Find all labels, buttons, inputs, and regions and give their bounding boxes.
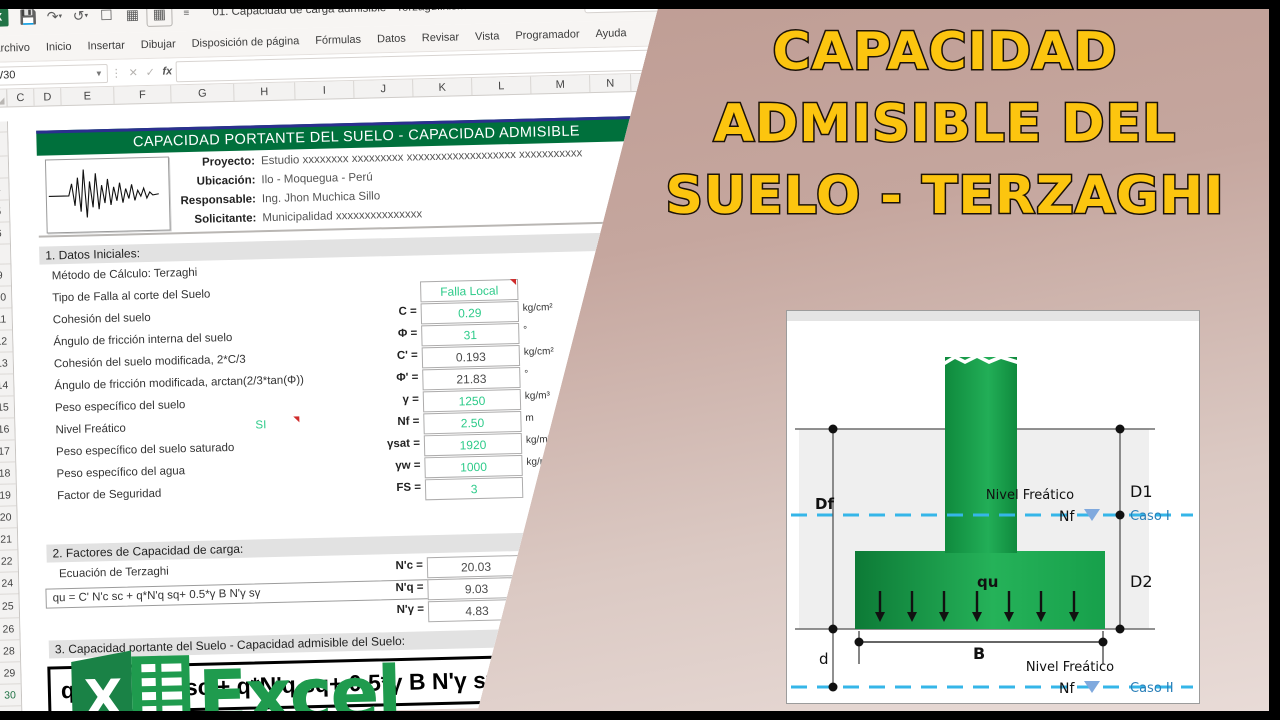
row-header-2[interactable]: 2 bbox=[0, 132, 8, 157]
accept-icon[interactable]: ✓ bbox=[142, 65, 159, 78]
symbol-cohesion-mod: C' = bbox=[382, 349, 418, 362]
diagram-label-d1: D1 bbox=[1130, 482, 1153, 501]
foundation-diagram-svg: Df d B qu D1 D2 Nivel Freático Nf Caso I… bbox=[787, 319, 1199, 701]
row-header-20[interactable]: 20 bbox=[0, 506, 17, 529]
row-header-3[interactable]: 3 bbox=[0, 156, 8, 179]
value-factor-seguridad[interactable]: 3 bbox=[425, 477, 523, 500]
value-angulo-mod[interactable]: 21.83 bbox=[422, 367, 520, 390]
excel-watermark: X Excel bbox=[69, 640, 401, 720]
symbol-ngamma: N'γ = bbox=[380, 603, 424, 616]
symbol-cohesion: C = bbox=[381, 305, 417, 318]
row-header-16[interactable]: 16 bbox=[0, 418, 15, 441]
column-header-H[interactable]: H bbox=[234, 82, 295, 100]
column-header-E[interactable]: E bbox=[61, 87, 114, 105]
cancel-icon[interactable]: ✕ bbox=[125, 66, 142, 79]
header-value-ubicacion: Ilo - Moquegua - Perú bbox=[261, 172, 372, 187]
value-nivel-freatico[interactable]: 2.50 bbox=[423, 411, 521, 434]
header-label-solicitante: Solicitante: bbox=[108, 212, 256, 228]
row-header-30[interactable]: 30 bbox=[0, 684, 21, 707]
value-cohesion-mod[interactable]: 0.193 bbox=[422, 345, 520, 368]
section-1-title: 1. Datos Iniciales: bbox=[39, 231, 679, 265]
row-header-4[interactable]: 4 bbox=[0, 178, 9, 201]
row-header-28[interactable]: 28 bbox=[0, 640, 20, 663]
column-header-L[interactable]: L bbox=[472, 77, 531, 95]
row-header-9[interactable]: 9 bbox=[0, 264, 11, 287]
undo-icon[interactable]: ↷▾ bbox=[42, 4, 67, 29]
ribbon-tab-archivo[interactable]: Archivo bbox=[0, 39, 38, 58]
column-header-F[interactable]: F bbox=[114, 85, 171, 103]
column-header-G[interactable]: G bbox=[171, 84, 234, 103]
row-header-17[interactable]: 17 bbox=[0, 440, 15, 463]
symbol-factor-seguridad: FS = bbox=[377, 481, 421, 494]
row-metodo-calculo: Método de Cálculo: Terzaghi bbox=[52, 267, 198, 283]
row-peso-saturado: Peso específico del suelo saturado bbox=[56, 442, 235, 458]
more-options-icon[interactable]: ⋮ bbox=[108, 66, 125, 79]
value-angulo-friccion[interactable]: 31 bbox=[421, 323, 519, 346]
row-header-14[interactable]: 14 bbox=[0, 374, 14, 397]
row-header-12[interactable]: 12 bbox=[0, 330, 13, 353]
row-header-5[interactable]: 5 bbox=[0, 200, 9, 223]
row-header-22[interactable]: 22 bbox=[0, 550, 18, 573]
sheet-header-block: Proyecto: Estudio xxxxxxxx xxxxxxxxx xxx… bbox=[37, 140, 679, 238]
ribbon-tab-inicio[interactable]: Inicio bbox=[38, 38, 80, 57]
unit-angulo-mod: ° bbox=[524, 369, 528, 380]
symbol-peso-suelo: γ = bbox=[383, 393, 419, 406]
row-cohesion: Cohesión del suelo bbox=[53, 312, 151, 326]
diagram-label-caso-1: Caso I bbox=[1130, 509, 1170, 524]
ribbon-tab-revisar[interactable]: Revisar bbox=[414, 28, 468, 47]
header-value-responsable: Ing. Jhon Muchica Sillo bbox=[262, 190, 381, 205]
row-header-21[interactable]: 21 bbox=[0, 528, 17, 551]
row-header-31[interactable]: 31 bbox=[0, 706, 22, 720]
column-header-J[interactable]: J bbox=[354, 79, 413, 97]
row-header-26[interactable]: 26 bbox=[0, 618, 20, 641]
value-peso-agua[interactable]: 1000 bbox=[424, 455, 522, 478]
header-value-proyecto: Estudio xxxxxxxx xxxxxxxxx xxxxxxxxxxxxx… bbox=[261, 147, 583, 167]
row-nivel-freatico: Nivel Freático bbox=[55, 423, 126, 437]
row-header-29[interactable]: 29 bbox=[0, 662, 21, 685]
symbol-nivel-freatico: Nf = bbox=[383, 415, 419, 428]
promo-title: CAPACIDAD ADMISIBLE DEL SUELO - TERZAGHI bbox=[620, 16, 1270, 232]
fx-icon[interactable]: fx bbox=[159, 65, 176, 77]
unit-nivel-freatico: m bbox=[525, 413, 534, 424]
unit-cohesion: kg/cm² bbox=[523, 302, 553, 314]
camera-icon[interactable]: ☐ bbox=[94, 3, 119, 28]
row-header-6[interactable]: 6 bbox=[0, 222, 10, 245]
row-cohesion-mod: Cohesión del suelo modificada, 2*C/3 bbox=[54, 354, 246, 371]
header-label-proyecto: Proyecto: bbox=[107, 155, 255, 171]
header-label-ubicacion: Ubicación: bbox=[107, 174, 255, 190]
row-header-1[interactable]: 1 bbox=[0, 121, 7, 133]
symbol-angulo-friccion: Φ = bbox=[381, 327, 417, 340]
row-factor-seguridad: Factor de Seguridad bbox=[57, 488, 161, 503]
search-placeholder: Busca bbox=[609, 0, 637, 8]
column-header-I[interactable]: I bbox=[295, 81, 354, 99]
diagram-label-nf-1: Nf bbox=[1059, 509, 1075, 525]
symbol-angulo-mod: Φ' = bbox=[382, 371, 418, 384]
diagram-label-caso-2: Caso II bbox=[1130, 681, 1174, 696]
column-header-D[interactable]: D bbox=[34, 88, 61, 106]
row-angulo-mod: Ángulo de fricción modificada, arctan(2/… bbox=[54, 374, 304, 392]
ribbon-tab-programador[interactable]: Programador bbox=[507, 25, 588, 45]
diagram-label-nf-2: Nf bbox=[1059, 681, 1075, 697]
row-header-25[interactable]: 25 bbox=[0, 594, 19, 619]
unit-peso-suelo: kg/m³ bbox=[525, 390, 550, 402]
excel-logo-icon: X bbox=[0, 8, 9, 26]
row-header-18[interactable]: 18 bbox=[0, 462, 16, 485]
value-nc[interactable]: 20.03 bbox=[427, 555, 525, 578]
column-header-K[interactable]: K bbox=[413, 78, 472, 96]
diagram-label-qu: qu bbox=[977, 573, 998, 591]
value-peso-suelo[interactable]: 1250 bbox=[423, 389, 521, 412]
column-header-N[interactable]: N bbox=[590, 74, 631, 92]
row-peso-suelo: Peso específico del suelo bbox=[55, 399, 186, 414]
table-icon[interactable]: ▦ bbox=[120, 2, 145, 27]
ribbon-tab-datos[interactable]: Datos bbox=[369, 29, 414, 48]
comment-marker-icon-2 bbox=[293, 416, 299, 422]
promo-title-line-3: SUELO - TERZAGHI bbox=[620, 160, 1270, 232]
row-header-19[interactable]: 19 bbox=[0, 484, 16, 507]
column-header-C[interactable]: C bbox=[7, 89, 34, 107]
ribbon-tab-f-rmulas[interactable]: Fórmulas bbox=[307, 31, 369, 51]
row-header-15[interactable]: 15 bbox=[0, 396, 14, 419]
row-tipo-falla: Tipo de Falla al corte del Suelo bbox=[52, 289, 210, 305]
document-title: 01. Capacidad de carga admisible - Terza… bbox=[212, 0, 505, 18]
column-header-M[interactable]: M bbox=[531, 75, 590, 93]
symbol-peso-agua: γw = bbox=[376, 459, 420, 472]
ribbon-tab-vista[interactable]: Vista bbox=[467, 27, 508, 46]
excel-watermark-word: Excel bbox=[197, 650, 401, 720]
value-tipo-falla[interactable]: Falla Local bbox=[420, 279, 518, 302]
row-header-10[interactable]: 10 bbox=[0, 286, 12, 309]
screenshot-root: CAPACIDAD ADMISIBLE DEL SUELO - TERZAGHI bbox=[0, 0, 1280, 720]
diagram-label-d: d bbox=[819, 650, 829, 668]
unit-angulo-friccion: ° bbox=[523, 325, 527, 336]
customize-qat-icon[interactable]: ≡ bbox=[174, 1, 199, 26]
comment-marker-icon bbox=[510, 279, 516, 285]
name-box-value: W30 bbox=[0, 69, 16, 82]
promo-title-line-1: CAPACIDAD bbox=[620, 16, 1270, 88]
symbol-peso-saturado: γsat = bbox=[376, 437, 420, 450]
promo-title-line-2: ADMISIBLE DEL bbox=[620, 88, 1270, 160]
value-peso-saturado[interactable]: 1920 bbox=[424, 433, 522, 456]
search-icon: 🔍 bbox=[591, 0, 604, 9]
header-label-responsable: Responsable: bbox=[108, 193, 256, 209]
value-cohesion[interactable]: 0.29 bbox=[421, 301, 519, 324]
ribbon-tab-dibujar[interactable]: Dibujar bbox=[133, 35, 184, 54]
row-peso-agua: Peso específico del agua bbox=[56, 465, 185, 480]
header-value-solicitante: Municipalidad xxxxxxxxxxxxxxx bbox=[262, 208, 422, 224]
diagram-label-nivel-freatico-1: Nivel Freático bbox=[986, 488, 1074, 503]
row-header-hidden[interactable] bbox=[0, 244, 10, 265]
row-header-11[interactable]: 11 bbox=[0, 308, 12, 331]
name-box[interactable]: W30 ▼ bbox=[0, 63, 108, 85]
ribbon-tab-disposici-n-de-p-gina[interactable]: Disposición de página bbox=[183, 32, 307, 53]
redo-icon[interactable]: ↺▾ bbox=[68, 3, 93, 28]
unit-cohesion-mod: kg/cm² bbox=[524, 346, 554, 358]
chevron-down-icon[interactable]: ▼ bbox=[95, 69, 103, 78]
save-icon[interactable]: 💾 bbox=[16, 5, 41, 30]
ribbon-tab-insertar[interactable]: Insertar bbox=[79, 36, 133, 55]
value-nivel-freatico-si[interactable]: SI bbox=[255, 419, 266, 431]
symbol-nq: N'q = bbox=[379, 581, 423, 594]
row-header-24[interactable]: 24 bbox=[0, 572, 19, 595]
diagram-label-d2: D2 bbox=[1130, 572, 1153, 591]
select-all-corner[interactable] bbox=[0, 89, 8, 107]
diagram-label-nivel-freatico-2: Nivel Freático bbox=[1026, 660, 1114, 675]
diagram-label-b: B bbox=[973, 644, 985, 663]
section-2-subtitle: Ecuación de Terzaghi bbox=[59, 566, 169, 581]
symbol-nc: N'c = bbox=[379, 559, 423, 572]
diagram-label-df: Df bbox=[815, 495, 834, 513]
grid-icon[interactable]: ▦ bbox=[146, 0, 173, 27]
row-header-13[interactable]: 13 bbox=[0, 352, 13, 375]
ribbon-tab-ayuda[interactable]: Ayuda bbox=[587, 24, 634, 43]
row-angulo-friccion: Ángulo de fricción interna del suelo bbox=[53, 332, 232, 348]
excel-watermark-letter: X bbox=[83, 669, 123, 720]
foundation-diagram: Df d B qu D1 D2 Nivel Freático Nf Caso I… bbox=[786, 310, 1200, 704]
